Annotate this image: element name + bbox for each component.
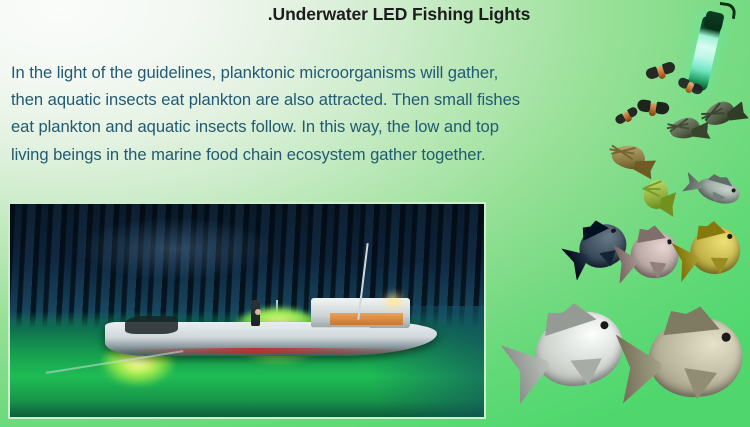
fisherman-head <box>255 309 261 315</box>
page-title: .Underwater LED Fishing Lights <box>0 4 750 25</box>
boat-rail <box>198 327 371 329</box>
underwater-led-tube <box>697 2 731 94</box>
shrimp-green-center <box>639 170 678 219</box>
aquatic-insect-upper <box>646 58 677 85</box>
boat-cabin-window <box>330 313 403 325</box>
insect-wing-right <box>691 83 705 96</box>
insect-wing-right <box>662 61 676 75</box>
insect-wing-right <box>656 102 670 115</box>
body-paragraph: In the light of the guidelines, plankton… <box>11 59 531 168</box>
fish-tilapia-large <box>619 308 750 416</box>
small-fish-right <box>683 169 745 211</box>
led-cap <box>703 10 725 32</box>
insect-wing-left <box>637 99 651 112</box>
fish-golden-carp <box>672 219 750 289</box>
photo-inner <box>10 204 484 417</box>
deck-lamp <box>390 298 397 305</box>
sky-glint <box>76 217 275 281</box>
fish-spotted-seatrout <box>502 296 641 414</box>
boat <box>105 302 437 366</box>
slide-canvas: .Underwater LED Fishing Lights In the li… <box>0 0 750 427</box>
shrimp-mid-right <box>664 109 710 147</box>
night-boat-photo <box>8 202 486 419</box>
bow-gear <box>125 316 178 334</box>
aquatic-insect-left <box>613 104 641 130</box>
